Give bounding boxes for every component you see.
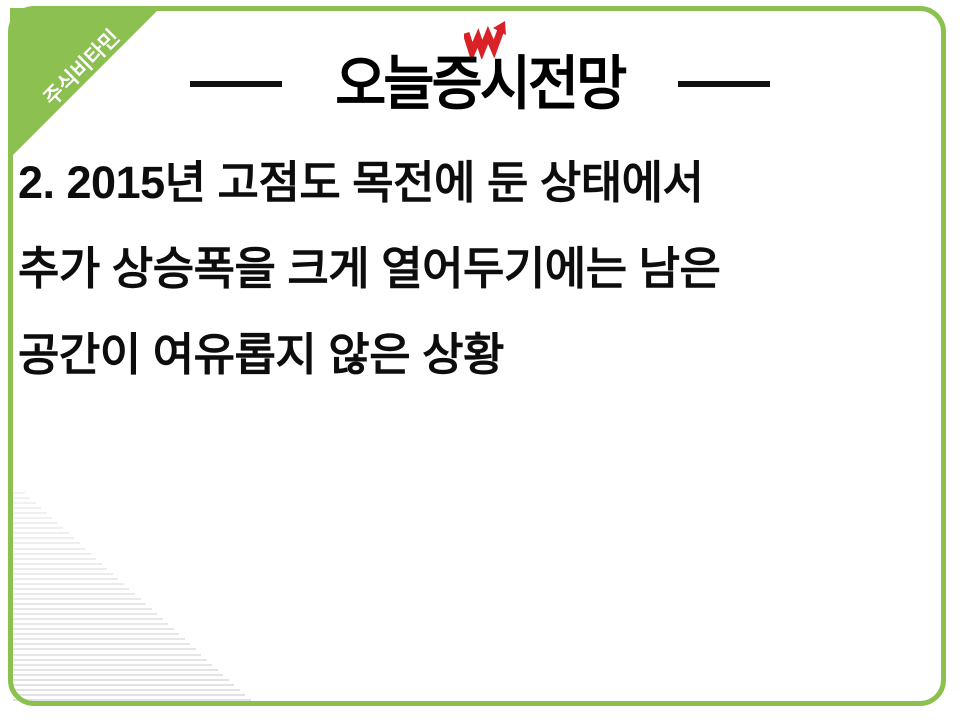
hatch-decoration <box>13 492 313 704</box>
ribbon-corner-outline <box>10 8 45 43</box>
hatch-line <box>13 608 152 610</box>
hatch-line <box>13 648 196 650</box>
body-text-block: 2. 2015년 고점도 목전에 둔 상태에서 추가 상승폭을 크게 열어두기에… <box>18 140 938 398</box>
hatch-line <box>13 593 135 595</box>
hatch-line <box>13 603 146 605</box>
hatch-line <box>13 507 41 509</box>
hatch-line <box>13 537 74 539</box>
hatch-line <box>13 527 63 529</box>
hatch-line <box>13 694 245 696</box>
hatch-line <box>13 638 185 640</box>
hatch-line <box>13 553 91 555</box>
hatch-line <box>13 522 58 524</box>
hatch-line <box>13 613 157 615</box>
hatch-line <box>13 588 129 590</box>
hatch-line <box>13 669 218 671</box>
body-line: 2. 2015년 고점도 목전에 둔 상태에서 <box>18 140 938 226</box>
hatch-line <box>13 578 118 580</box>
title-rule-right <box>678 81 770 87</box>
hatch-line <box>13 643 190 645</box>
hatch-line <box>13 623 168 625</box>
hatch-line <box>13 573 113 575</box>
hatch-line <box>13 563 102 565</box>
page-title: 오늘증시전망 <box>335 55 624 114</box>
hatch-line <box>13 583 124 585</box>
hatch-line <box>13 679 229 681</box>
hatch-line <box>13 502 36 504</box>
hatch-line <box>13 548 85 550</box>
hatch-line <box>13 542 80 544</box>
hatch-line <box>13 532 69 534</box>
hatch-line <box>13 628 174 630</box>
hatch-line <box>13 633 179 635</box>
hatch-line <box>13 558 96 560</box>
title-block: 오늘증시전망 <box>320 55 640 114</box>
hatch-line <box>13 659 207 661</box>
hatch-line <box>13 492 25 494</box>
slide-canvas: 주식비타민 오늘증시전망 2. 2015년 고점도 목전에 둔 상태에서 추가 … <box>0 0 960 720</box>
hatch-line <box>13 497 30 499</box>
slide-header: 오늘증시전망 <box>0 44 960 124</box>
hatch-line <box>13 674 223 676</box>
hatch-line <box>13 598 141 600</box>
hatch-line <box>13 664 212 666</box>
hatch-line <box>13 654 201 656</box>
hatch-line <box>13 517 52 519</box>
hatch-line <box>13 618 163 620</box>
body-line: 공간이 여유롭지 않은 상황 <box>18 312 938 398</box>
body-line: 추가 상승폭을 크게 열어두기에는 남은 <box>18 226 938 312</box>
hatch-line <box>13 689 240 691</box>
hatch-line <box>13 568 107 570</box>
title-rule-left <box>190 81 282 87</box>
hatch-line <box>13 699 251 701</box>
hatch-line <box>13 684 234 686</box>
hatch-line <box>13 512 47 514</box>
